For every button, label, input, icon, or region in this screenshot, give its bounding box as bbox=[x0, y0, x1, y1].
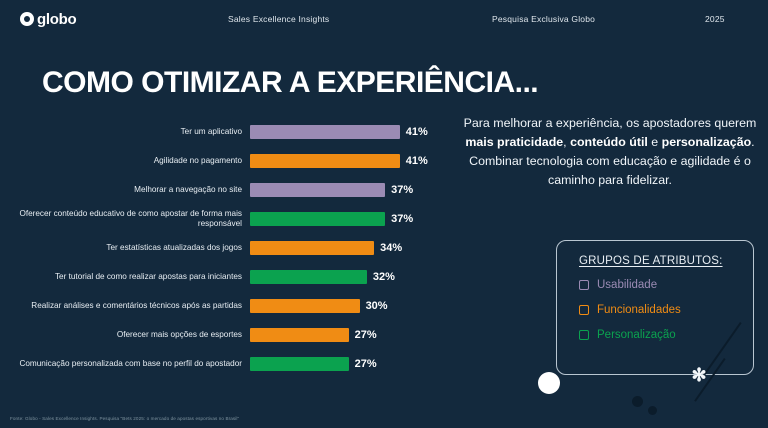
header-year: 2025 bbox=[705, 14, 725, 24]
legend-item: Usabilidade bbox=[579, 279, 753, 291]
decorative-circle bbox=[538, 372, 560, 394]
page-header: globo Sales Excellence Insights Pesquisa… bbox=[0, 0, 768, 38]
insight-emphasis: mais praticidade bbox=[465, 135, 563, 149]
chart-bar bbox=[250, 241, 374, 255]
legend-swatch-icon bbox=[579, 280, 589, 290]
chart-row-label: Agilidade no pagamento bbox=[18, 156, 250, 167]
legend-item-label: Funcionalidades bbox=[597, 304, 681, 316]
globo-logo-text: globo bbox=[37, 11, 76, 28]
chart-bar-value: 34% bbox=[380, 242, 402, 254]
header-center-label: Sales Excellence Insights bbox=[228, 14, 329, 24]
legend-swatch-icon bbox=[579, 330, 589, 340]
chart-bar-track: 37% bbox=[250, 176, 478, 204]
globo-logo: globo bbox=[20, 11, 76, 28]
decorative-dot bbox=[632, 396, 643, 407]
chart-bar bbox=[250, 270, 367, 284]
legend-swatch-icon bbox=[579, 305, 589, 315]
chart-row: Agilidade no pagamento41% bbox=[18, 147, 478, 175]
chart-row: Ter estatísticas atualizadas dos jogos34… bbox=[18, 234, 478, 262]
horizontal-bar-chart: Ter um aplicativo41%Agilidade no pagamen… bbox=[18, 118, 478, 379]
sparkle-icon: ✻ bbox=[690, 366, 708, 384]
insight-text: e bbox=[648, 135, 662, 149]
chart-bar bbox=[250, 212, 385, 226]
chart-bar bbox=[250, 125, 400, 139]
chart-bar-track: 37% bbox=[250, 205, 478, 233]
chart-bar-track: 30% bbox=[250, 292, 478, 320]
chart-bar bbox=[250, 154, 400, 168]
chart-bar-track: 27% bbox=[250, 350, 478, 378]
chart-bar-value: 41% bbox=[406, 126, 428, 138]
chart-bar-value: 27% bbox=[355, 358, 377, 370]
chart-bar bbox=[250, 357, 349, 371]
chart-row-label: Comunicação personalizada com base no pe… bbox=[18, 359, 250, 370]
chart-row: Oferecer mais opções de esportes27% bbox=[18, 321, 478, 349]
legend-panel: GRUPOS DE ATRIBUTOS: UsabilidadeFunciona… bbox=[556, 240, 754, 375]
legend-items: UsabilidadeFuncionalidadesPersonalização bbox=[579, 279, 753, 341]
chart-row-label: Oferecer conteúdo educativo de como apos… bbox=[18, 209, 250, 230]
header-right-label: Pesquisa Exclusiva Globo bbox=[492, 14, 595, 24]
insight-paragraph: Para melhorar a experiência, os apostado… bbox=[462, 114, 758, 190]
chart-row-label: Melhorar a navegação no site bbox=[18, 185, 250, 196]
legend-item-label: Usabilidade bbox=[597, 279, 657, 291]
chart-bar-track: 41% bbox=[250, 147, 478, 175]
chart-bar-track: 34% bbox=[250, 234, 478, 262]
chart-bar-value: 27% bbox=[355, 329, 377, 341]
chart-bar-value: 41% bbox=[406, 155, 428, 167]
chart-bar-track: 32% bbox=[250, 263, 478, 291]
chart-row-label: Ter estatísticas atualizadas dos jogos bbox=[18, 243, 250, 254]
chart-bar bbox=[250, 299, 360, 313]
chart-row: Melhorar a navegação no site37% bbox=[18, 176, 478, 204]
chart-bar-value: 37% bbox=[391, 213, 413, 225]
chart-row-label: Realizar análises e comentários técnicos… bbox=[18, 301, 250, 312]
source-footnote: Fonte: Globo - Sales Excellence Insights… bbox=[10, 416, 239, 421]
chart-row: Ter um aplicativo41% bbox=[18, 118, 478, 146]
chart-bar-track: 27% bbox=[250, 321, 478, 349]
chart-row: Ter tutorial de como realizar apostas pa… bbox=[18, 263, 478, 291]
chart-row-label: Ter um aplicativo bbox=[18, 127, 250, 138]
insight-emphasis: conteúdo útil bbox=[570, 135, 648, 149]
chart-row: Oferecer conteúdo educativo de como apos… bbox=[18, 205, 478, 233]
chart-bar-value: 32% bbox=[373, 271, 395, 283]
insight-text: Para melhorar a experiência, os apostado… bbox=[464, 116, 757, 130]
legend-title: GRUPOS DE ATRIBUTOS: bbox=[579, 255, 753, 267]
chart-row-label: Ter tutorial de como realizar apostas pa… bbox=[18, 272, 250, 283]
page-title: COMO OTIMIZAR A EXPERIÊNCIA... bbox=[42, 66, 538, 100]
insight-emphasis: personalização bbox=[662, 135, 752, 149]
legend-item: Funcionalidades bbox=[579, 304, 753, 316]
chart-bar-value: 37% bbox=[391, 184, 413, 196]
globo-logo-icon bbox=[20, 12, 34, 26]
chart-row: Comunicação personalizada com base no pe… bbox=[18, 350, 478, 378]
chart-row-label: Oferecer mais opções de esportes bbox=[18, 330, 250, 341]
chart-bar bbox=[250, 183, 385, 197]
chart-row: Realizar análises e comentários técnicos… bbox=[18, 292, 478, 320]
chart-bar bbox=[250, 328, 349, 342]
legend-item-label: Personalização bbox=[597, 329, 676, 341]
decorative-dot bbox=[648, 406, 657, 415]
chart-bar-track: 41% bbox=[250, 118, 478, 146]
chart-bar-value: 30% bbox=[366, 300, 388, 312]
